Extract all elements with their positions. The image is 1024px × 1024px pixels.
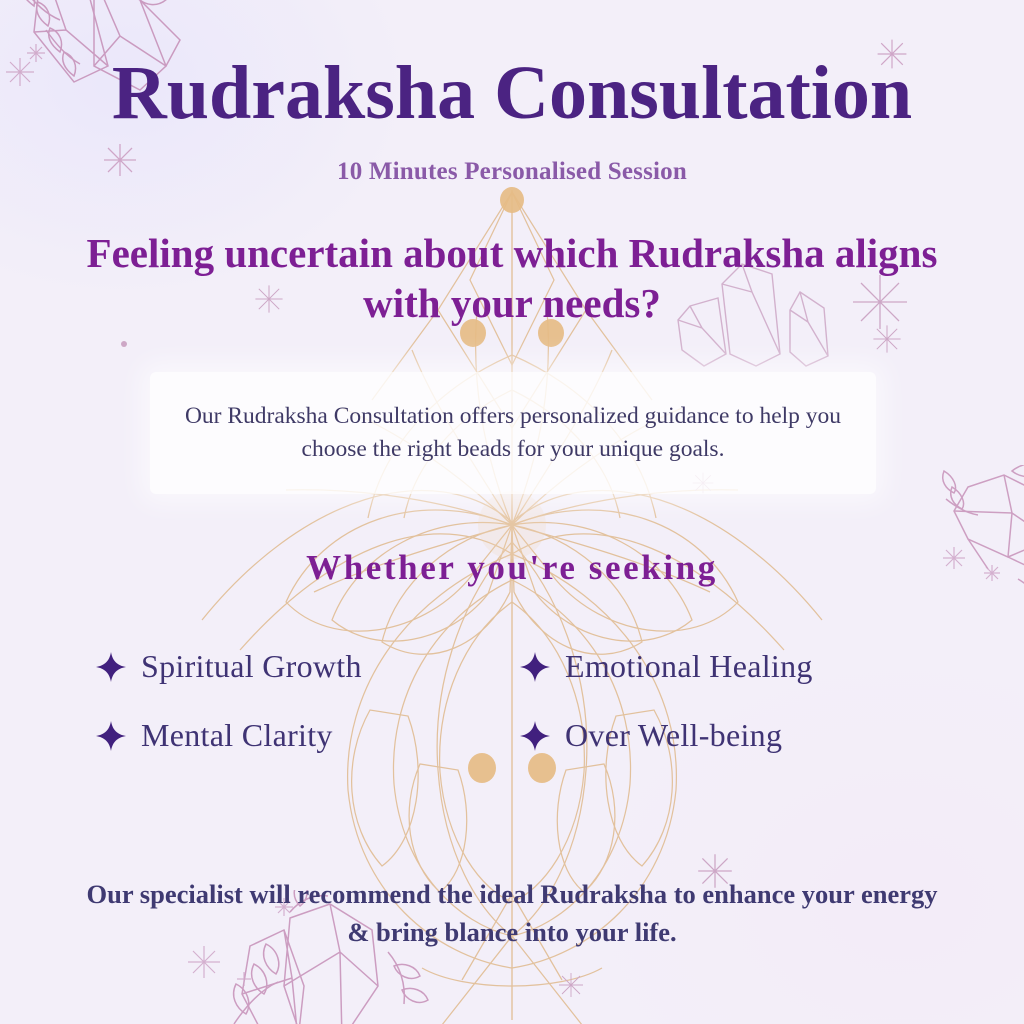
benefits-row: Spiritual Growth Emotional Healing xyxy=(96,648,928,685)
footer-text: Our specialist will recommend the ideal … xyxy=(85,876,939,951)
benefit-label: Mental Clarity xyxy=(141,717,333,754)
sparkle-star-icon xyxy=(520,721,550,751)
poster-canvas: Rudraksha Consultation 10 Minutes Person… xyxy=(0,0,1024,1024)
sparkle-star-icon xyxy=(520,652,550,682)
description-text: Our Rudraksha Consultation offers person… xyxy=(150,400,876,467)
benefit-label: Over Well-being xyxy=(565,717,782,754)
sparkle-star-icon xyxy=(96,721,126,751)
benefit-label: Emotional Healing xyxy=(565,648,813,685)
benefits-row: Mental Clarity Over Well-being xyxy=(96,717,928,754)
benefits-list: Spiritual Growth Emotional Healing Menta… xyxy=(96,648,928,786)
poster-content: Rudraksha Consultation 10 Minutes Person… xyxy=(0,0,1024,1024)
page-subtitle: 10 Minutes Personalised Session xyxy=(0,158,1024,186)
headline-question: Feeling uncertain about which Rudraksha … xyxy=(70,228,954,328)
benefit-item-spiritual-growth: Spiritual Growth xyxy=(96,648,512,685)
seeking-heading: Whether you're seeking xyxy=(0,548,1024,588)
description-card: Our Rudraksha Consultation offers person… xyxy=(150,372,876,494)
benefit-item-emotional-healing: Emotional Healing xyxy=(512,648,928,685)
benefit-item-mental-clarity: Mental Clarity xyxy=(96,717,512,754)
sparkle-star-icon xyxy=(96,652,126,682)
benefit-label: Spiritual Growth xyxy=(141,648,362,685)
page-title: Rudraksha Consultation xyxy=(0,55,1024,131)
benefit-item-over-well-being: Over Well-being xyxy=(512,717,928,754)
